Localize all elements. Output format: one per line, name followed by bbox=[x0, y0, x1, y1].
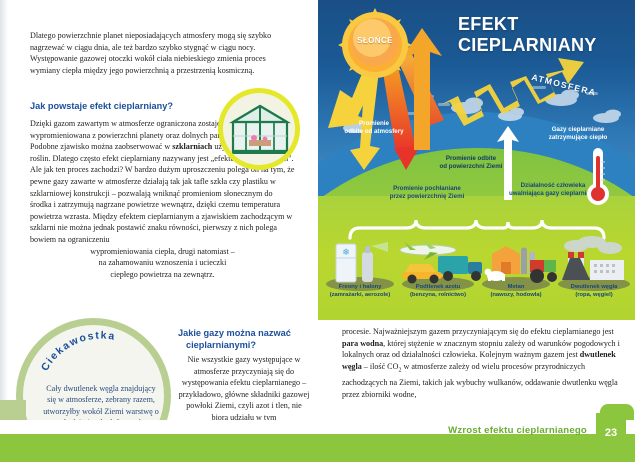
freezer-icon: ❄ bbox=[336, 244, 356, 282]
footer-green-bar bbox=[0, 434, 635, 462]
caption-carbon-dioxide: Dwutlenek węgla (ropa, węgiel) bbox=[554, 283, 634, 299]
spine-shadow bbox=[0, 0, 8, 462]
magazine-spread: Dlatego powierzchnie planet nieposiadają… bbox=[0, 0, 635, 462]
trapped-heat-zigzag bbox=[442, 58, 584, 126]
heading-line-1: Jakie gazy można nazwać bbox=[178, 328, 291, 338]
paragraph-which-gases: Nie wszystkie gazy występujące w atmosfe… bbox=[178, 354, 310, 424]
infographic-title: EFEKT CIEPLARNIANY bbox=[458, 14, 635, 56]
paragraph-part-e: ciepłego powietrza na zewnątrz. bbox=[30, 269, 295, 281]
label-greenhouse-gases: Gazy cieplarniane zatrzymujące ciepło bbox=[528, 126, 628, 143]
factory-icon bbox=[562, 236, 624, 280]
tractor-icon bbox=[530, 260, 557, 283]
right-part-a: procesie. Najważniejszym gazem przyczyni… bbox=[342, 327, 614, 336]
thermometer-icon bbox=[580, 146, 616, 208]
svg-text:Ciekawostka: Ciekawostka bbox=[39, 329, 117, 373]
right-part-b: , której stężenie w znacznym stopniu zal… bbox=[342, 339, 620, 360]
truck-icon bbox=[438, 256, 482, 281]
caption-freons: Freony i halony (zamrażarki, aerozole) bbox=[320, 283, 400, 299]
paragraph-part-c: wypromieniowania ciepła, drugi natomiast… bbox=[30, 246, 295, 258]
sun-label: SŁOŃCE bbox=[338, 36, 412, 45]
label-absorbed-by-earth: Promienie pochłaniane przez powierzchnię… bbox=[372, 185, 482, 202]
bold-szklarniach: szklarniach bbox=[172, 142, 212, 151]
right-page-paragraph: procesie. Najważniejszym gazem przyczyni… bbox=[342, 326, 627, 400]
left-page-column: Dlatego powierzchnie planet nieposiadają… bbox=[0, 0, 318, 462]
page-number-badge: 23 bbox=[596, 413, 626, 443]
greenhouse-illustration-badge bbox=[218, 88, 300, 170]
caption-methane: Metan (nawozy, hodowla) bbox=[476, 283, 556, 299]
fact-title-arc: Ciekawostka bbox=[23, 331, 178, 391]
footer-section-label: Wzrost efektu cieplarnianego bbox=[448, 425, 587, 436]
paragraph-intro: Dlatego powierzchnie planet nieposiadają… bbox=[30, 30, 292, 76]
right-part-c: – ilość CO bbox=[362, 362, 399, 371]
caption-nitrous-oxide: Podtlenek azotu (benzyna, rolnictwo) bbox=[398, 283, 478, 299]
bold-para-wodna: para wodna bbox=[342, 339, 383, 348]
label-reflected-by-atmosphere: Promienie odbite od atmosfery bbox=[328, 120, 420, 137]
aerosol-can-icon bbox=[362, 242, 388, 282]
label-reflected-by-earth: Promienie odbite od powierzchni Ziemi bbox=[422, 155, 520, 172]
heading-line-2: cieplarnianymi? bbox=[178, 339, 314, 351]
sun-icon bbox=[338, 8, 412, 82]
greenhouse-badge-inner bbox=[223, 93, 295, 165]
greenhouse-icon bbox=[229, 103, 291, 159]
heading-which-gases: Jakie gazy można nazwać cieplarnianymi? bbox=[178, 327, 314, 351]
paragraph-part-d: na zahamowaniu wznoszenia i ucieczki bbox=[30, 257, 295, 269]
heading-how-greenhouse-effect-forms: Jak powstaje efekt cieplarniany? bbox=[30, 100, 173, 112]
infographic-panel: SŁOŃCE EFEKT CIEPLARNIANY ATMOSFERA Prom… bbox=[318, 0, 635, 320]
barn-icon bbox=[492, 246, 535, 274]
sun-graphic bbox=[338, 8, 412, 82]
svg-text:❄: ❄ bbox=[342, 247, 350, 257]
